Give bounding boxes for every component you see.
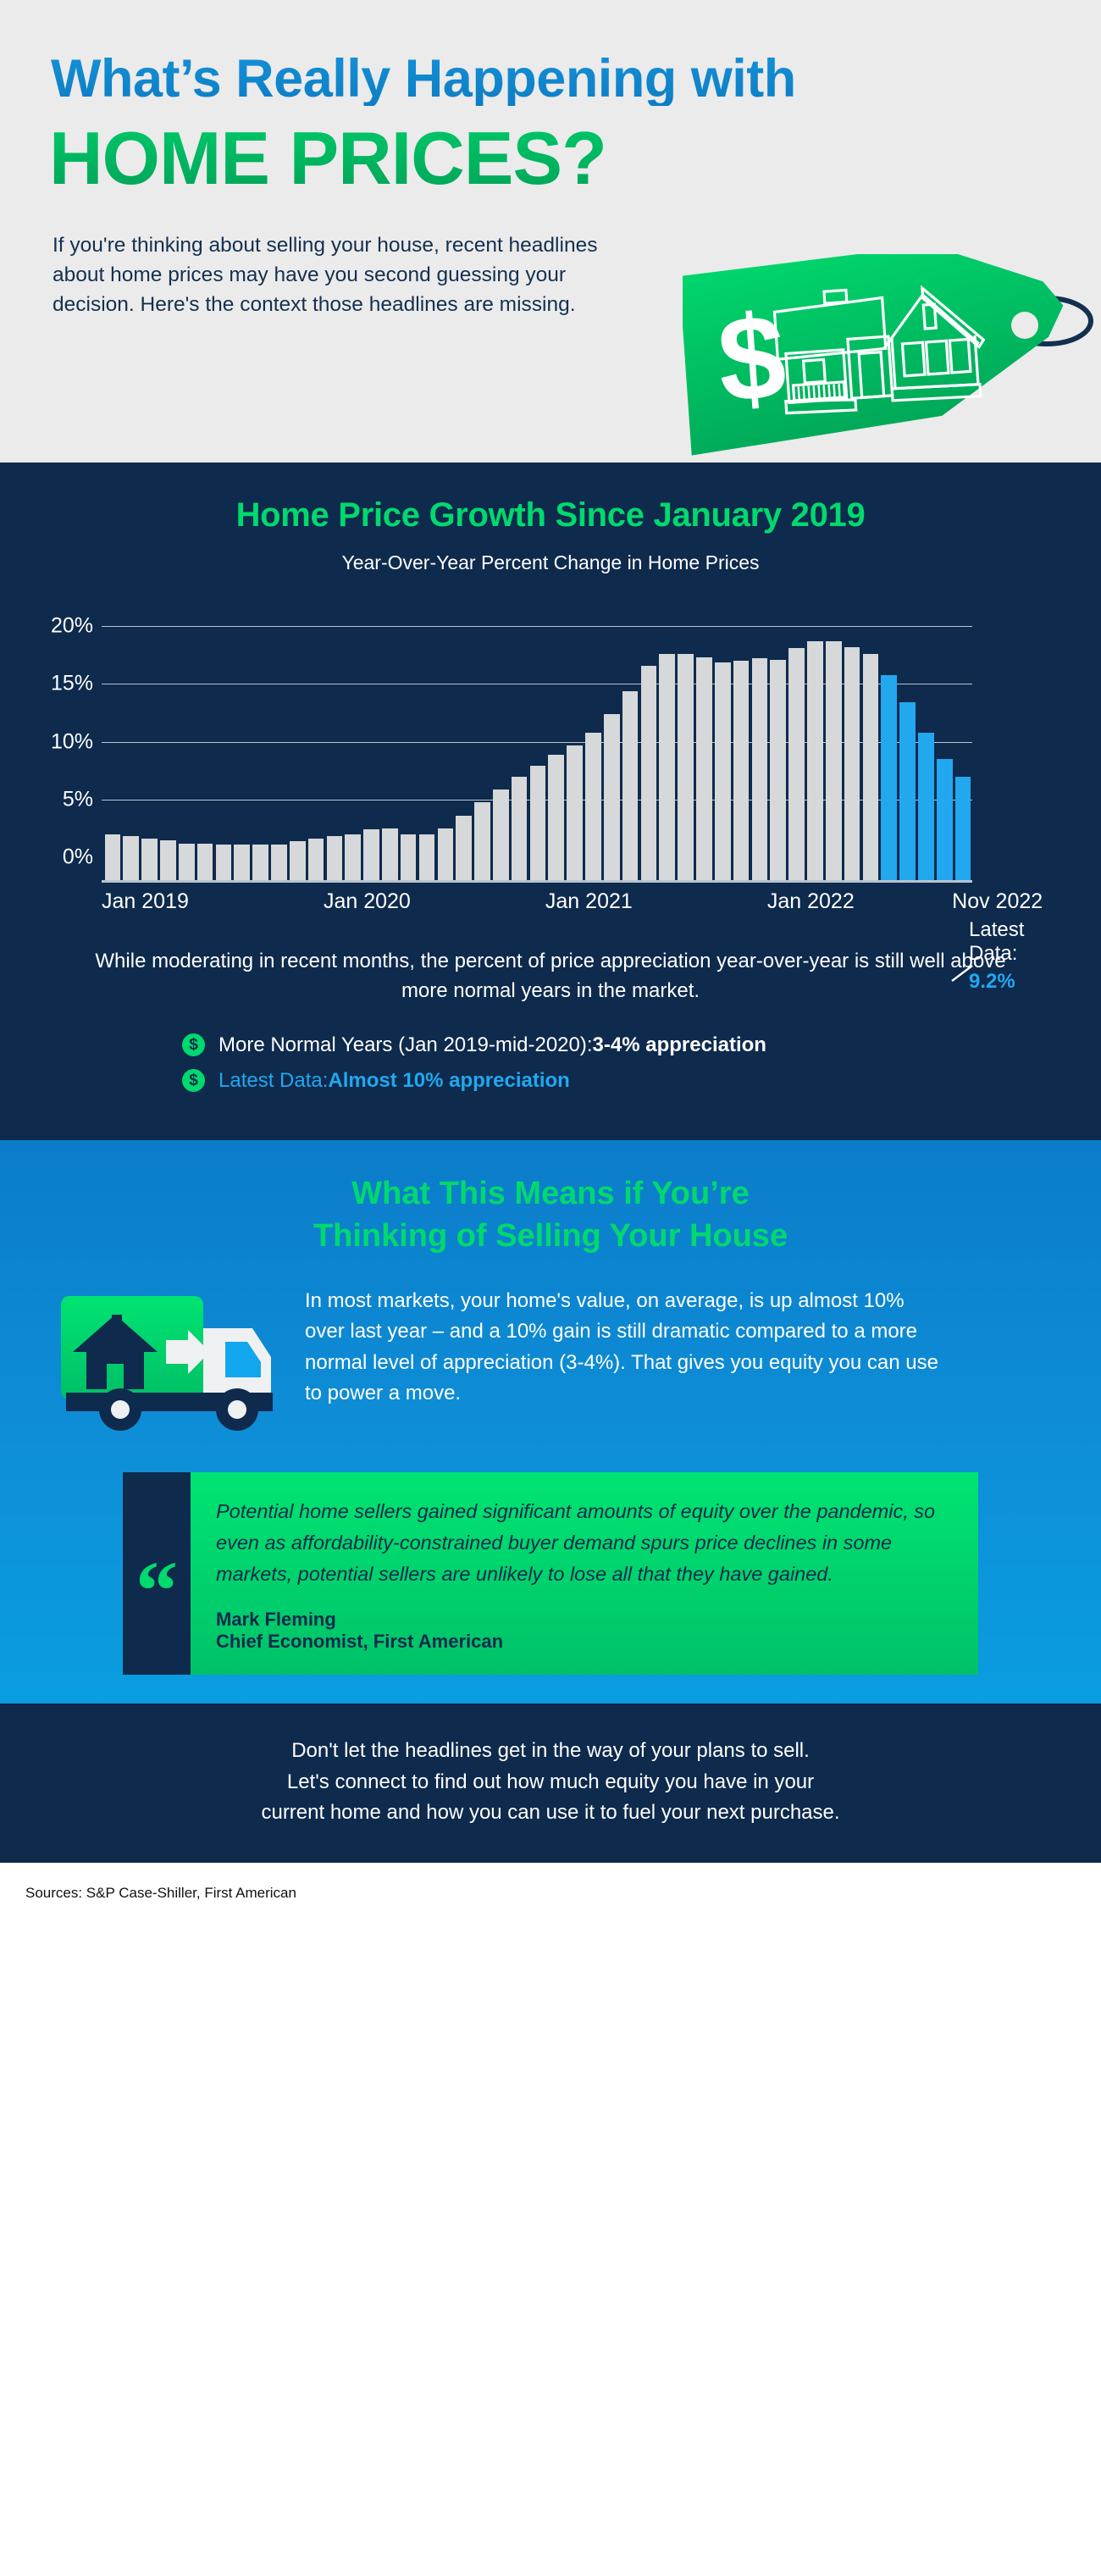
chart-bar	[659, 654, 675, 883]
chart-bar	[141, 839, 158, 883]
chart-bar	[474, 802, 490, 883]
chart-subtitle: Year-Over-Year Percent Change in Home Pr…	[0, 551, 1101, 574]
moving-truck-house-icon	[51, 1282, 305, 1437]
chart-y-tick-label: 0%	[25, 845, 93, 870]
chart-bar	[937, 759, 953, 883]
chart-bar	[715, 662, 731, 883]
chart-bar	[788, 648, 805, 883]
chart-bar	[678, 654, 694, 883]
chart-bar	[438, 828, 454, 883]
page-title-line1: What’s Really Happening with	[0, 0, 1101, 106]
chart-bar	[197, 844, 213, 883]
bullet-text-plain: More Normal Years (Jan 2019-mid-2020):	[219, 1033, 593, 1057]
chart-bar	[863, 654, 879, 883]
chart-bar	[290, 841, 306, 883]
chart-bar	[844, 647, 860, 883]
callout-value: 9.2%	[969, 970, 1087, 994]
chart-bar	[327, 836, 343, 883]
selling-body-row: In most markets, your home's value, on a…	[51, 1282, 1101, 1437]
chart-bar	[345, 834, 361, 883]
chart-bar	[622, 691, 639, 883]
chart-bar	[955, 777, 971, 883]
selling-title-line2: Thinking of Selling Your House	[313, 1218, 788, 1254]
chart-bar	[308, 839, 324, 883]
cta-line1: Don't let the headlines get in the way o…	[0, 1736, 1101, 1766]
chart-bar	[548, 755, 564, 883]
page-title-line2: HOME PRICES?	[0, 106, 1101, 196]
chart-bar	[530, 766, 546, 883]
cta-line2: Let's connect to find out how much equit…	[0, 1767, 1101, 1798]
chart-bar	[252, 845, 268, 883]
chart-bars	[103, 629, 972, 883]
chart-bar	[512, 777, 528, 883]
chart-bar	[493, 789, 509, 883]
chart-bar	[216, 845, 232, 883]
cta-line3: current home and how you can use it to f…	[0, 1798, 1101, 1828]
header-section: What’s Really Happening with HOME PRICES…	[0, 0, 1101, 463]
chart-bar	[918, 733, 934, 883]
dollar-badge-icon: $	[182, 1033, 205, 1056]
chart-bar	[105, 834, 121, 883]
chart-plot-area: 0%5%10%15%20%	[0, 603, 1101, 883]
infographic-page: What’s Really Happening with HOME PRICES…	[0, 0, 1101, 2576]
chart-y-tick-label: 10%	[25, 729, 93, 754]
chart-bullet-list: $ More Normal Years (Jan 2019-mid-2020):…	[182, 1033, 1101, 1093]
chart-bar	[641, 666, 657, 883]
latest-data-callout: Latest Data: 9.2%	[969, 918, 1087, 994]
intro-paragraph: If you're thinking about selling your ho…	[53, 231, 645, 319]
quote-author-role: Chief Economist, First American	[216, 1631, 948, 1653]
chart-section: Home Price Growth Since January 2019 Yea…	[0, 463, 1101, 1140]
chart-bar	[382, 828, 398, 883]
quote-text: Potential home sellers gained significan…	[216, 1496, 948, 1590]
chart-bar	[752, 658, 768, 883]
chart-note: While moderating in recent months, the p…	[93, 947, 1008, 1006]
list-item: $ More Normal Years (Jan 2019-mid-2020):…	[182, 1033, 1101, 1057]
quote-mark-column: “	[123, 1472, 191, 1675]
bullet-text-bold: Almost 10% appreciation	[328, 1069, 569, 1093]
callout-label-line1: Latest	[969, 918, 1024, 941]
quote-body: Potential home sellers gained significan…	[191, 1472, 978, 1675]
chart-bar	[401, 834, 417, 883]
chart-bar	[899, 702, 916, 883]
chart-x-tick-label: Jan 2021	[545, 889, 633, 914]
chart-y-tick-label: 5%	[25, 787, 93, 812]
quote-author-name: Mark Fleming	[216, 1609, 948, 1631]
bullet-text-plain: Latest Data:	[219, 1069, 328, 1093]
chart-bar	[234, 845, 250, 883]
dollar-badge-icon: $	[182, 1069, 205, 1092]
quote-mark-icon: “	[136, 1557, 178, 1591]
sources-line: Sources: S&P Case-Shiller, First America…	[0, 1863, 1101, 1902]
chart-bar	[363, 829, 379, 883]
callout-label-line2: Data:	[969, 942, 1017, 965]
chart-bar	[567, 745, 583, 883]
selling-body-text: In most markets, your home's value, on a…	[305, 1282, 949, 1410]
chart-x-tick-label: Jan 2020	[324, 889, 411, 914]
list-item: $ Latest Data: Almost 10% appreciation	[182, 1069, 1101, 1093]
chart-title: Home Price Growth Since January 2019	[0, 496, 1101, 535]
chart-x-axis-line	[102, 880, 972, 883]
cta-section: Don't let the headlines get in the way o…	[0, 1703, 1101, 1862]
chart-x-tick-label: Jan 2022	[767, 889, 855, 914]
chart-bar	[123, 836, 139, 883]
chart-bar	[271, 845, 287, 883]
chart-y-tick-label: 20%	[25, 614, 93, 639]
chart-bar	[770, 660, 786, 883]
chart-bar	[826, 641, 842, 883]
chart-x-axis-labels: Jan 2019Jan 2020Jan 2021Jan 2022Nov 2022	[0, 889, 1101, 918]
chart-bar	[419, 834, 435, 883]
chart-bar	[179, 844, 195, 883]
chart-bar	[807, 641, 823, 883]
price-tag-house-icon: $	[683, 254, 1101, 463]
chart-gridline	[102, 626, 972, 627]
chart-bar	[733, 661, 750, 883]
chart-bar	[696, 657, 712, 883]
chart-y-tick-label: 15%	[25, 672, 93, 696]
quote-block: “ Potential home sellers gained signific…	[123, 1472, 978, 1675]
chart-bar	[585, 733, 601, 883]
selling-title-line1: What This Means if You’re	[351, 1176, 749, 1211]
selling-section: What This Means if You’re Thinking of Se…	[0, 1140, 1101, 1704]
chart-bar	[881, 675, 897, 883]
selling-section-title: What This Means if You’re Thinking of Se…	[0, 1172, 1101, 1257]
chart-x-tick-label: Jan 2019	[102, 889, 189, 914]
chart-x-tick-label: Nov 2022	[952, 889, 1043, 914]
bullet-text-bold: 3-4% appreciation	[593, 1033, 766, 1057]
chart-bar	[456, 816, 472, 883]
chart-bar	[160, 840, 176, 883]
chart-bar	[604, 714, 620, 883]
